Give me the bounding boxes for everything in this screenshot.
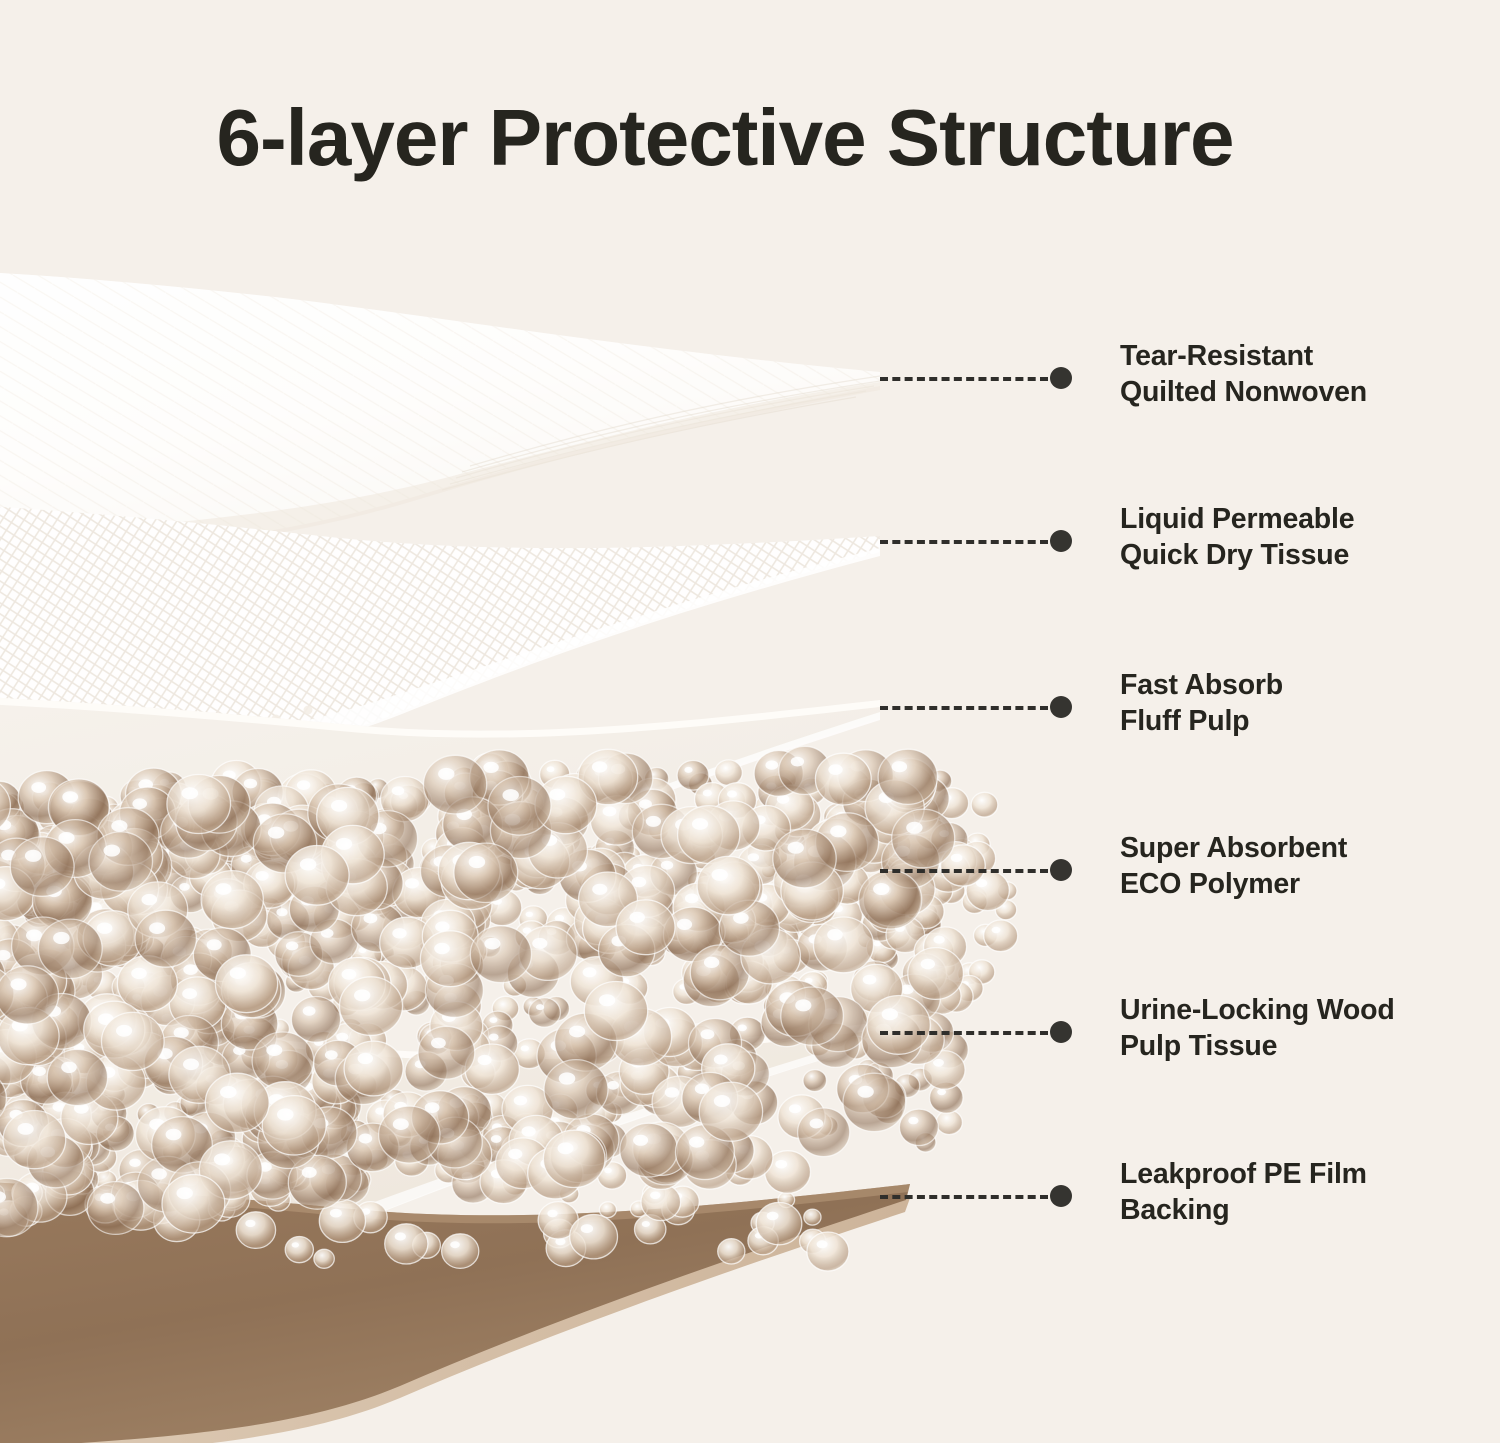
callout-label-line1: Tear-Resistant [1120, 340, 1313, 372]
callout-layer-6: Leakproof PE FilmBacking [880, 1196, 1440, 1197]
callout-label-line2: Pulp Tissue [1120, 1028, 1450, 1064]
callout-label-line2: Backing [1120, 1192, 1450, 1228]
callout-layer-5: Urine-Locking WoodPulp Tissue [880, 1032, 1440, 1033]
callout-dot-icon [1050, 1185, 1072, 1207]
callout-label-line1: Urine-Locking Wood [1120, 994, 1395, 1026]
layer-6-pe-film-backing [0, 1175, 910, 1443]
callout-label-line1: Leakproof PE Film [1120, 1158, 1367, 1190]
layer-3-fluff-pulp [0, 689, 880, 978]
callout-layer-3: Fast AbsorbFluff Pulp [880, 707, 1440, 708]
callout-layer-4: Super AbsorbentECO Polymer [880, 870, 1440, 871]
dashed-leader-line-icon [880, 706, 1048, 710]
callout-dot-icon [1050, 1021, 1072, 1043]
callout-label: Super AbsorbentECO Polymer [1120, 830, 1450, 902]
dashed-leader-line-icon [880, 869, 1048, 873]
callout-dot-icon [1050, 367, 1072, 389]
layer-1-quilted-nonwoven [0, 265, 880, 588]
callout-dot-icon [1050, 696, 1072, 718]
callout-label-line2: ECO Polymer [1120, 866, 1450, 902]
callout-label-line2: Quilted Nonwoven [1120, 374, 1450, 410]
callout-label-line2: Fluff Pulp [1120, 703, 1450, 739]
callout-layer-2: Liquid PermeableQuick Dry Tissue [880, 541, 1440, 542]
callout-label: Fast AbsorbFluff Pulp [1120, 667, 1450, 739]
callout-label-line1: Liquid Permeable [1120, 503, 1354, 535]
callout-dot-icon [1050, 530, 1072, 552]
layer-5-wood-pulp-tissue [0, 1009, 880, 1282]
dashed-leader-line-icon [880, 1195, 1048, 1199]
dashed-leader-line-icon [880, 1031, 1048, 1035]
callout-label: Tear-ResistantQuilted Nonwoven [1120, 338, 1450, 410]
layer-2-quick-dry-tissue [0, 496, 880, 794]
callout-dot-icon [1050, 859, 1072, 881]
callout-label: Leakproof PE FilmBacking [1120, 1156, 1450, 1228]
callout-label-line1: Fast Absorb [1120, 669, 1283, 701]
dashed-leader-line-icon [880, 377, 1048, 381]
callout-layer-1: Tear-ResistantQuilted Nonwoven [880, 378, 1440, 379]
page-title: 6-layer Protective Structure [0, 98, 1450, 178]
callout-label: Urine-Locking WoodPulp Tissue [1120, 992, 1450, 1064]
infographic-page: 6-layer Protective Structure [0, 0, 1500, 1443]
dashed-leader-line-icon [880, 540, 1048, 544]
callout-label-line1: Super Absorbent [1120, 832, 1347, 864]
callout-label-line2: Quick Dry Tissue [1120, 537, 1450, 573]
callout-label: Liquid PermeableQuick Dry Tissue [1120, 501, 1450, 573]
